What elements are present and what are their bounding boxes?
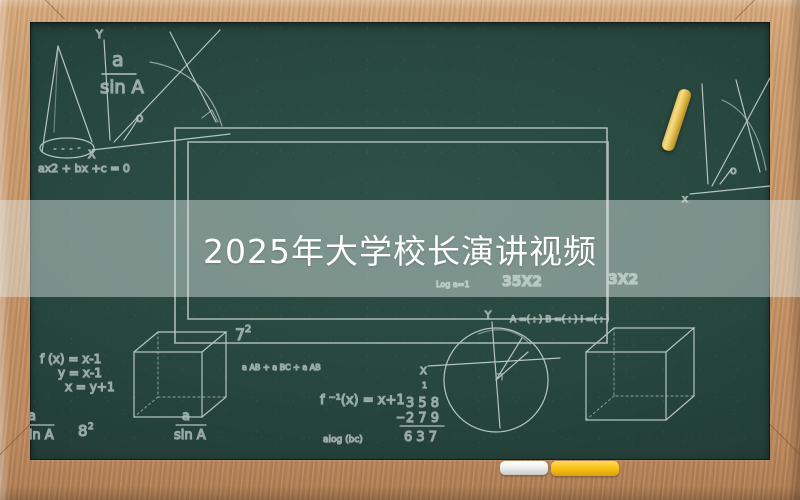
svg-text:X: X — [420, 366, 427, 377]
matrix-expression: A =( : ) B =( : ) I =( : ) — [510, 315, 609, 325]
angle-axes-diagram-2: x o — [682, 78, 770, 205]
svg-text:8: 8 — [78, 422, 88, 440]
yellow-chalk-stick — [551, 461, 619, 476]
svg-text:2 7 9: 2 7 9 — [406, 411, 439, 426]
inverse-function: f ⁻¹(x) = x+1 — [320, 393, 405, 408]
svg-text:f (x) = x-1: f (x) = x-1 — [40, 352, 101, 366]
svg-text:a: a — [182, 409, 190, 424]
svg-text:2: 2 — [88, 422, 94, 432]
svg-text:o: o — [730, 164, 737, 177]
cube-diagram-1 — [134, 332, 226, 417]
cube-diagram-2 — [586, 328, 694, 420]
svg-text:o: o — [136, 111, 143, 125]
subtraction-column: 3 5 8 2 7 9 6 3 7 − 1 — [396, 381, 444, 445]
svg-text:2: 2 — [245, 324, 251, 335]
svg-text:y = x-1: y = x-1 — [58, 366, 102, 380]
svg-text:sin A: sin A — [30, 428, 54, 443]
title-band: 2025年大学校长演讲视频 — [0, 200, 800, 297]
svg-text:3 5 8: 3 5 8 — [406, 396, 439, 411]
thumbnail-canvas: a sin A ax2 + bx +c = 0 Y X o — [0, 0, 800, 500]
faint-equation: a AB + a BC + a AB — [242, 363, 321, 372]
svg-text:a: a — [30, 409, 36, 424]
seven-squared: 7 2 — [235, 324, 251, 344]
eight-squared: 8 2 — [78, 422, 94, 440]
law-of-sines-label-2: a sin A — [30, 409, 54, 443]
svg-text:Y: Y — [95, 28, 103, 41]
log-product: alog (bc) — [323, 435, 363, 445]
svg-text:a: a — [112, 49, 124, 71]
svg-text:sin A: sin A — [174, 428, 206, 443]
function-equations: f (x) = x-1 y = x-1 x = y+1 — [40, 352, 115, 394]
white-chalk-stick — [500, 461, 548, 475]
svg-text:X: X — [88, 148, 96, 161]
svg-text:7: 7 — [235, 325, 245, 344]
svg-text:Y: Y — [484, 310, 492, 321]
svg-text:6 3 7: 6 3 7 — [404, 430, 437, 445]
svg-text:1: 1 — [422, 381, 427, 390]
cone-diagram — [40, 46, 94, 158]
law-of-sines-label-3: a sin A — [174, 409, 206, 443]
circle-axes-diagram: Y X — [420, 310, 560, 432]
quadratic-formula: ax2 + bx +c = 0 — [38, 162, 130, 175]
page-title: 2025年大学校长演讲视频 — [203, 225, 597, 273]
svg-text:−: − — [396, 411, 405, 424]
svg-text:x = y+1: x = y+1 — [65, 380, 115, 394]
